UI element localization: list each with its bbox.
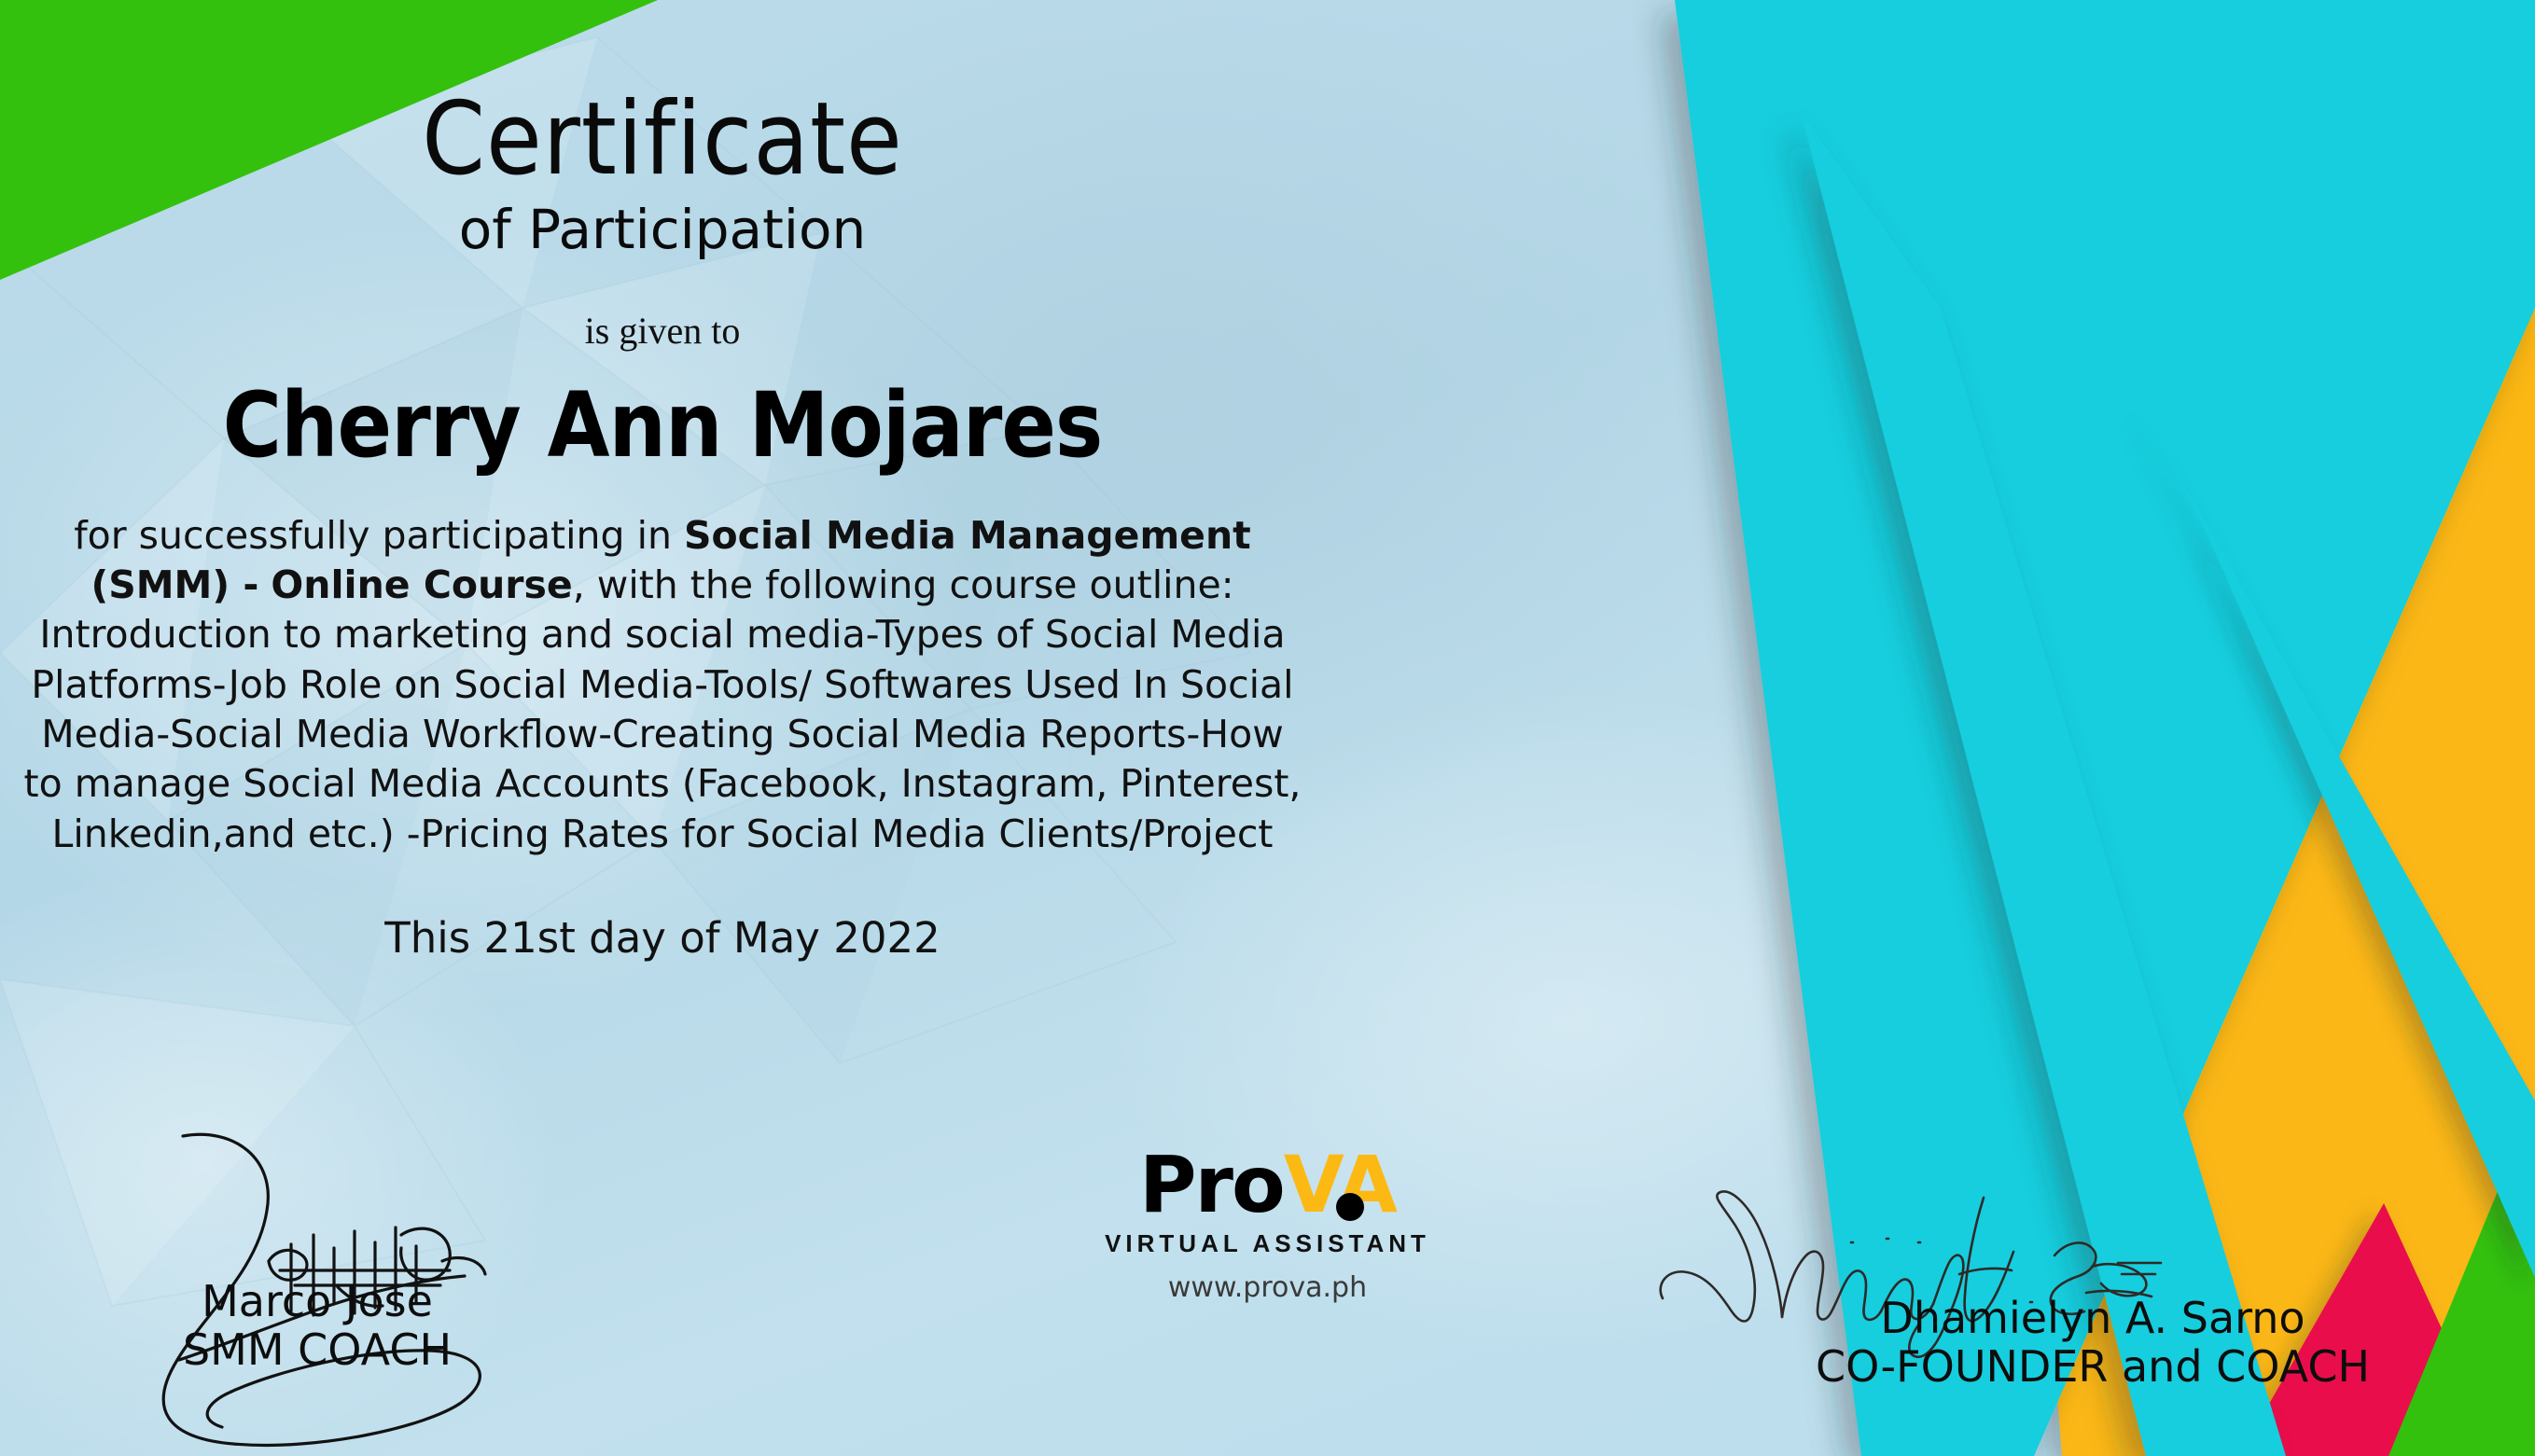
logo-tagline: VIRTUAL ASSISTANT [0, 1229, 2535, 1258]
logo-text-pro: Pro [1139, 1139, 1284, 1230]
logo-wordmark: ProVA [1139, 1145, 1396, 1224]
logo-dot-icon [1336, 1193, 1364, 1221]
page-title: Certificate [0, 90, 1325, 190]
certificate-subtitle: of Participation [0, 201, 1325, 258]
logo-text-va: VA [1284, 1139, 1396, 1230]
certificate-canvas: Certificate of Participation is given to… [0, 0, 2535, 1456]
signatory-role-right: CO-FOUNDER and COACH [1673, 1343, 2513, 1392]
given-to-label: is given to [0, 309, 1325, 353]
body-line1-pre: for successfully participating in [74, 513, 684, 558]
signatory-name-left: Marco Jose [56, 1278, 578, 1326]
body-line7: -Pricing Rates for Social Media Clients/… [407, 811, 1274, 856]
recipient-name: Cherry Ann Mojares [0, 373, 1325, 478]
course-name-bold-2: Online Course [271, 562, 572, 607]
signatory-block-left: Marco Jose SMM COACH [56, 1278, 578, 1374]
signatory-block-right: Dhamielyn A. Sarno CO-FOUNDER and COACH [1673, 1295, 2513, 1391]
signatory-role-left: SMM COACH [56, 1326, 578, 1375]
signatory-name-right: Dhamielyn A. Sarno [1673, 1295, 2513, 1343]
course-description: for successfully participating in Social… [0, 511, 1325, 859]
date-line: This 21st day of May 2022 [0, 913, 1325, 963]
